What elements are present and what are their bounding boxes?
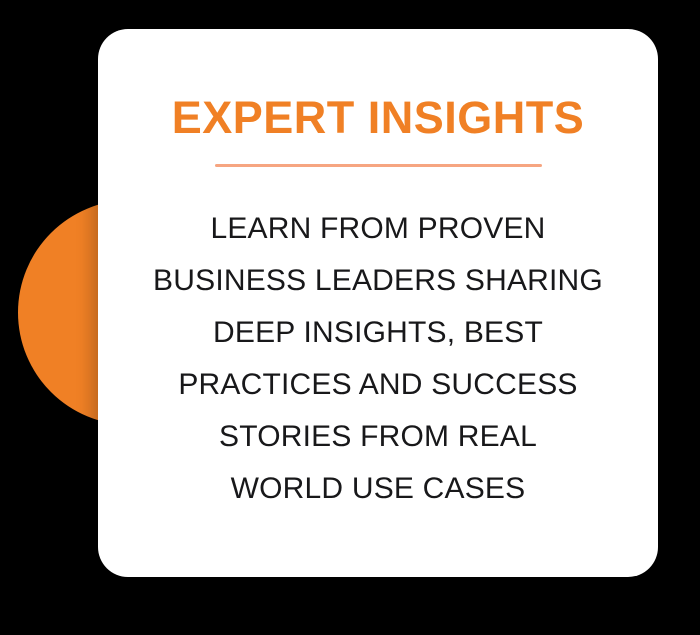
body-line: LEARN FROM PROVEN [120,203,636,255]
body-line: PRACTICES AND SUCCESS [120,359,636,411]
body-line: STORIES FROM REAL [120,411,636,463]
expert-insights-card: EXPERT INSIGHTS LEARN FROM PROVEN BUSINE… [98,29,658,577]
title-divider [215,164,542,167]
body-line: DEEP INSIGHTS, BEST [120,307,636,359]
infographic-card-stage: 1 EXPERT INSIGHTS LEARN FROM PROVEN BUSI… [0,0,700,635]
card-body-text: LEARN FROM PROVEN BUSINESS LEADERS SHARI… [120,203,636,515]
body-line: BUSINESS LEADERS SHARING [120,255,636,307]
body-line: WORLD USE CASES [120,463,636,515]
card-title: EXPERT INSIGHTS [172,95,585,140]
